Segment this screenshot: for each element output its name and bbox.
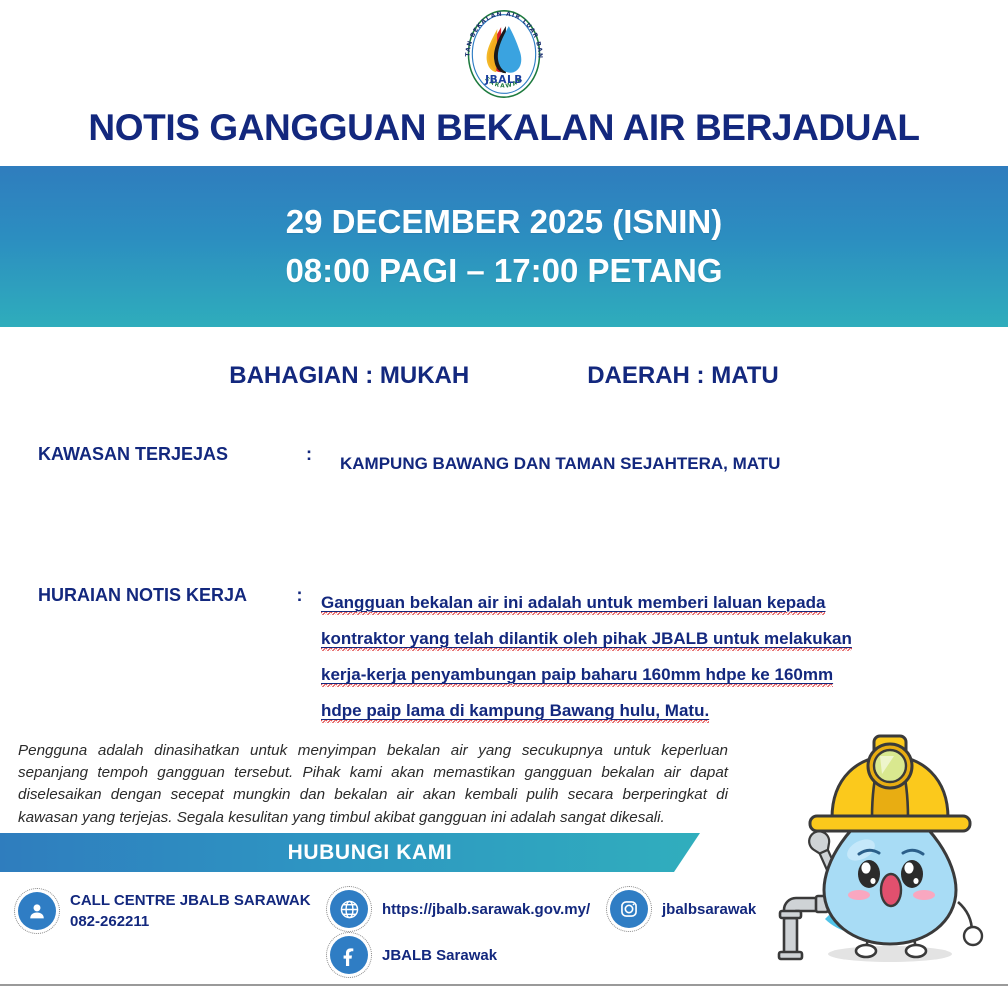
call-centre-name: CALL CENTRE JBALB SARAWAK	[70, 890, 311, 911]
logo-wrap: JABATAN BEKALAN AIR LUAR BANDAR SARAWAK …	[0, 6, 1008, 104]
facebook-icon	[330, 936, 368, 974]
division-row: BAHAGIAN : MUKAH DAERAH : MATU	[0, 362, 1008, 390]
work-description-label: HURAIAN NOTIS KERJA	[38, 585, 278, 606]
page-title: NOTIS GANGGUAN BEKALAN AIR BERJADUAL	[0, 108, 1008, 149]
work-description-text: Gangguan bekalan air ini adalah untuk me…	[321, 585, 852, 729]
affected-area-label: KAWASAN TERJEJAS	[38, 444, 278, 465]
disclaimer-text: Pengguna adalah dinasihatkan untuk menyi…	[18, 740, 728, 829]
desc-line: hdpe paip lama di kampung Bawang hulu, M…	[321, 701, 709, 724]
website-url[interactable]: https://jbalb.sarawak.gov.my/	[382, 899, 590, 920]
date-banner: 29 DECEMBER 2025 (ISNIN) 08:00 PAGI – 17…	[0, 166, 1008, 327]
contact-instagram[interactable]: jbalbsarawak	[610, 890, 756, 928]
contact-banner-title: HUBUNGI KAMI	[288, 841, 453, 865]
affected-area-field: KAWASAN TERJEJAS : KAMPUNG BAWANG DAN TA…	[38, 444, 968, 474]
date-line-primary: 29 DECEMBER 2025 (ISNIN)	[286, 198, 722, 247]
contact-banner-body: HUBUNGI KAMI	[0, 833, 700, 872]
svg-text:JBALB: JBALB	[484, 74, 523, 86]
facebook-page[interactable]: JBALB Sarawak	[382, 945, 497, 966]
header: JABATAN BEKALAN AIR LUAR BANDAR SARAWAK …	[0, 0, 1008, 149]
desc-line: Gangguan bekalan air ini adalah untuk me…	[321, 593, 825, 616]
bahagian-value: BAHAGIAN : MUKAH	[229, 362, 469, 390]
contact-call-text: CALL CENTRE JBALB SARAWAK 082-262211	[70, 890, 311, 932]
instagram-handle[interactable]: jbalbsarawak	[662, 899, 756, 920]
water-droplet-mascot-icon	[762, 722, 1008, 980]
instagram-icon	[610, 890, 648, 928]
daerah-value: DAERAH : MATU	[587, 362, 779, 390]
affected-area-colon: :	[278, 444, 340, 465]
banner-stripe-icon	[711, 833, 751, 872]
work-description-field: HURAIAN NOTIS KERJA : Gangguan bekalan a…	[38, 585, 978, 729]
desc-line: kontraktor yang telah dilantik oleh piha…	[321, 629, 852, 652]
contact-website[interactable]: https://jbalb.sarawak.gov.my/	[330, 890, 590, 928]
contact-call-centre[interactable]: CALL CENTRE JBALB SARAWAK 082-262211	[18, 890, 311, 932]
date-line-time: 08:00 PAGI – 17:00 PETANG	[285, 247, 722, 296]
call-centre-number: 082-262211	[70, 911, 311, 932]
person-icon	[18, 892, 56, 930]
jbalb-logo-icon: JABATAN BEKALAN AIR LUAR BANDAR SARAWAK …	[456, 6, 552, 102]
globe-icon	[330, 890, 368, 928]
affected-area-value: KAMPUNG BAWANG DAN TAMAN SEJAHTERA, MATU	[340, 444, 780, 474]
desc-line: kerja-kerja penyambungan paip baharu 160…	[321, 665, 833, 688]
work-description-colon: :	[278, 585, 321, 606]
contact-facebook[interactable]: JBALB Sarawak	[330, 936, 497, 974]
